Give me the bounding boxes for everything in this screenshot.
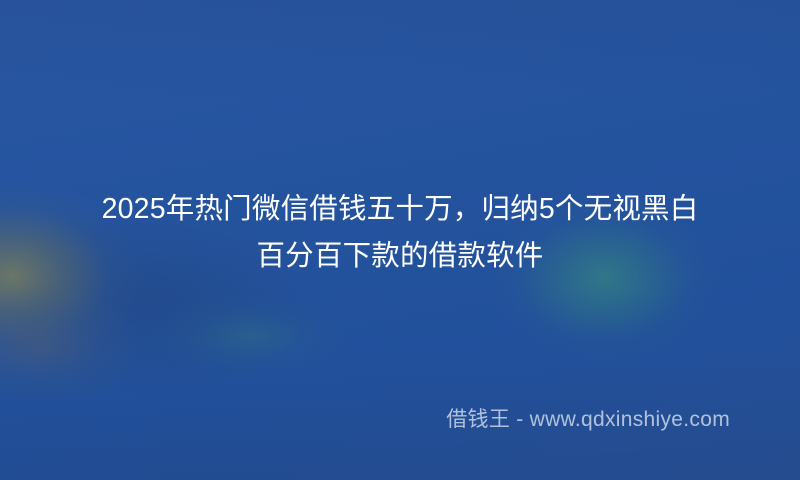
- title-line-2: 百分百下款的借款软件: [0, 233, 800, 280]
- title-line-1: 2025年热门微信借钱五十万，归纳5个无视黑白: [0, 186, 800, 233]
- watermark-attribution: 借钱王 - www.qdxinshiye.com: [446, 406, 730, 434]
- page-title: 2025年热门微信借钱五十万，归纳5个无视黑白 百分百下款的借款软件: [0, 186, 800, 280]
- banner-canvas: 2025年热门微信借钱五十万，归纳5个无视黑白 百分百下款的借款软件 借钱王 -…: [0, 0, 800, 480]
